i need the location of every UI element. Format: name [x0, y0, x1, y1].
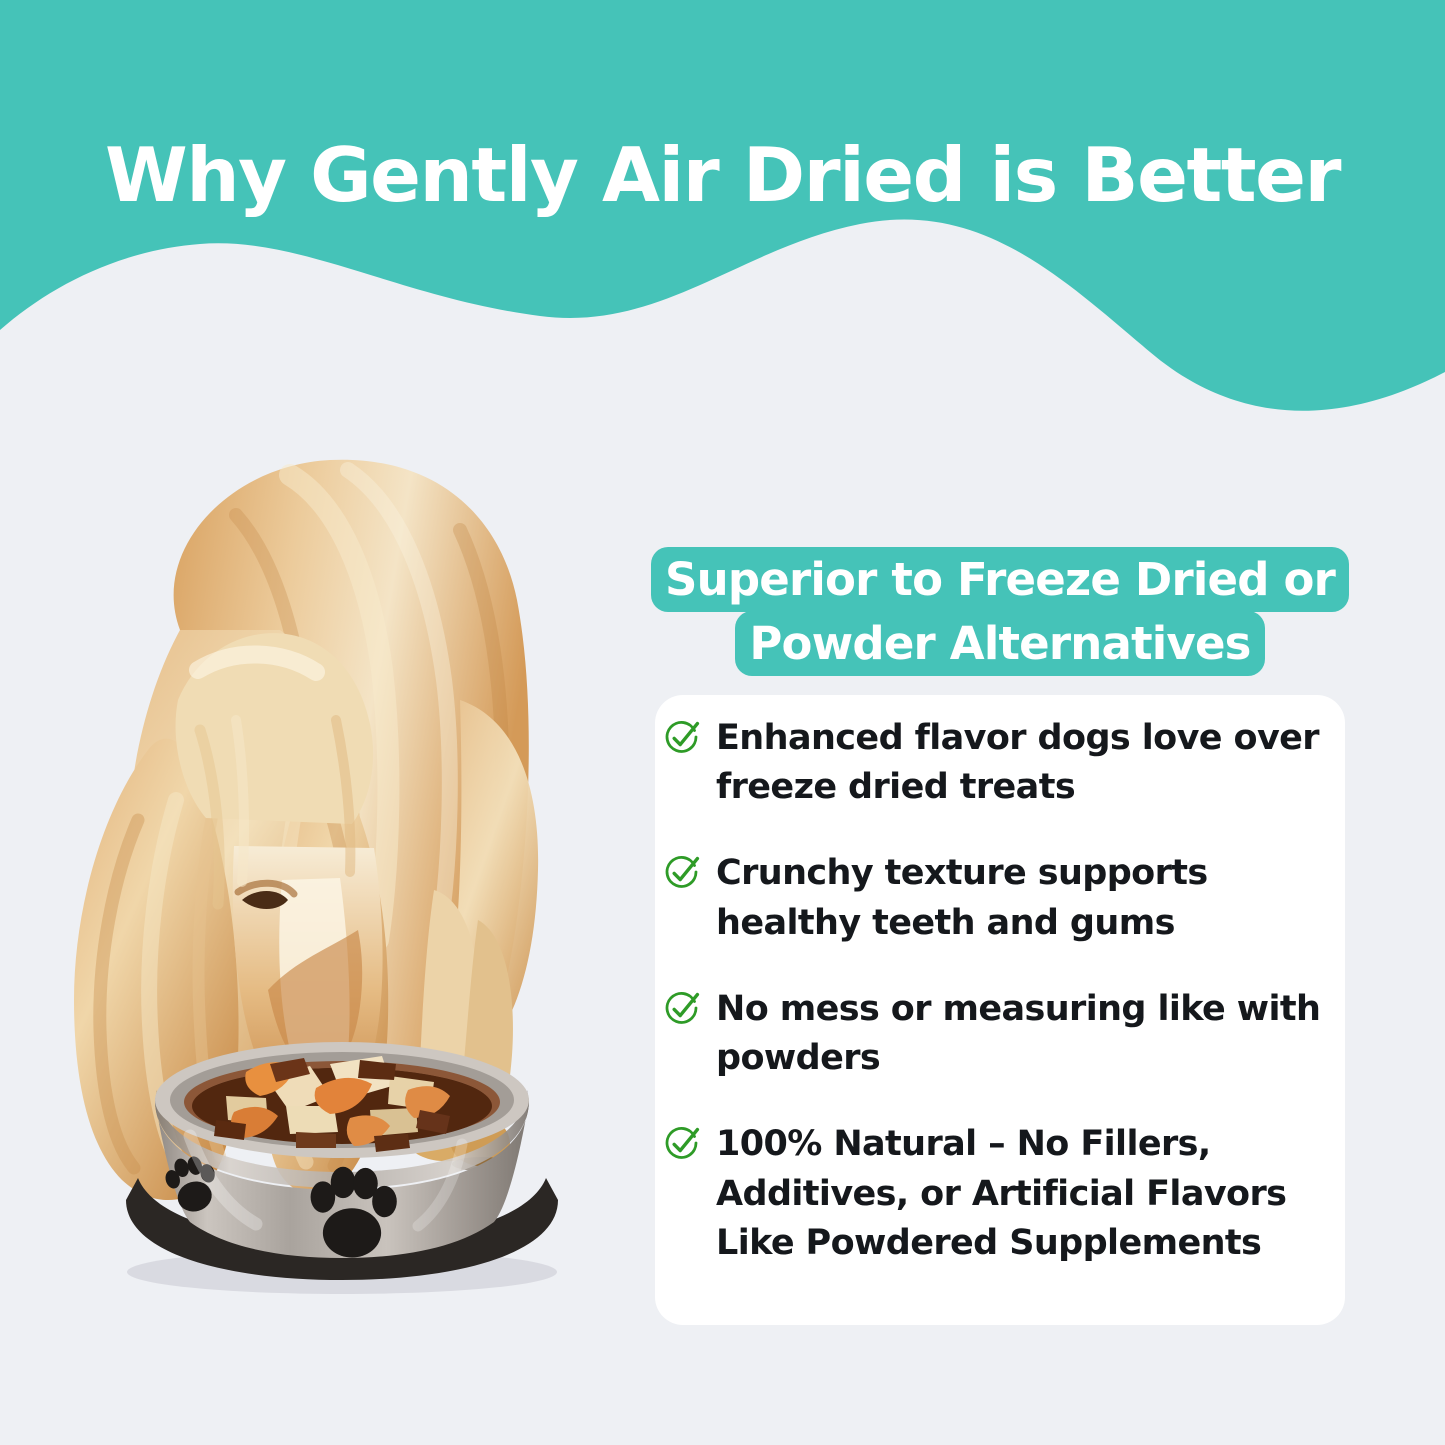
list-item: Enhanced flavor dogs love over freeze dr…: [662, 714, 1340, 813]
panel-heading: Superior to Freeze Dried or Powder Alter…: [620, 548, 1380, 676]
list-item: No mess or measuring like with powders: [662, 985, 1340, 1084]
panel-heading-highlight: Superior to Freeze Dried or Powder Alter…: [651, 547, 1349, 676]
check-circle-icon: [662, 989, 702, 1033]
benefit-text: No mess or measuring like with powders: [716, 985, 1340, 1084]
benefits-panel: Superior to Freeze Dried or Powder Alter…: [620, 548, 1380, 1269]
check-circle-icon: [662, 1124, 702, 1168]
infographic-root: Why Gently Air Dried is Better Superior …: [0, 0, 1445, 1445]
check-circle-icon: [662, 718, 702, 762]
benefit-text: Crunchy texture supports healthy teeth a…: [716, 849, 1340, 948]
benefit-text: 100% Natural – No Fillers, Additives, or…: [716, 1120, 1340, 1269]
check-circle-icon: [662, 853, 702, 897]
list-item: Crunchy texture supports healthy teeth a…: [662, 849, 1340, 948]
benefits-list: Enhanced flavor dogs love over freeze dr…: [620, 676, 1380, 1269]
dog-eating-photo: [30, 300, 650, 1360]
page-title: Why Gently Air Dried is Better: [0, 136, 1445, 215]
list-item: 100% Natural – No Fillers, Additives, or…: [662, 1120, 1340, 1269]
benefit-text: Enhanced flavor dogs love over freeze dr…: [716, 714, 1340, 813]
